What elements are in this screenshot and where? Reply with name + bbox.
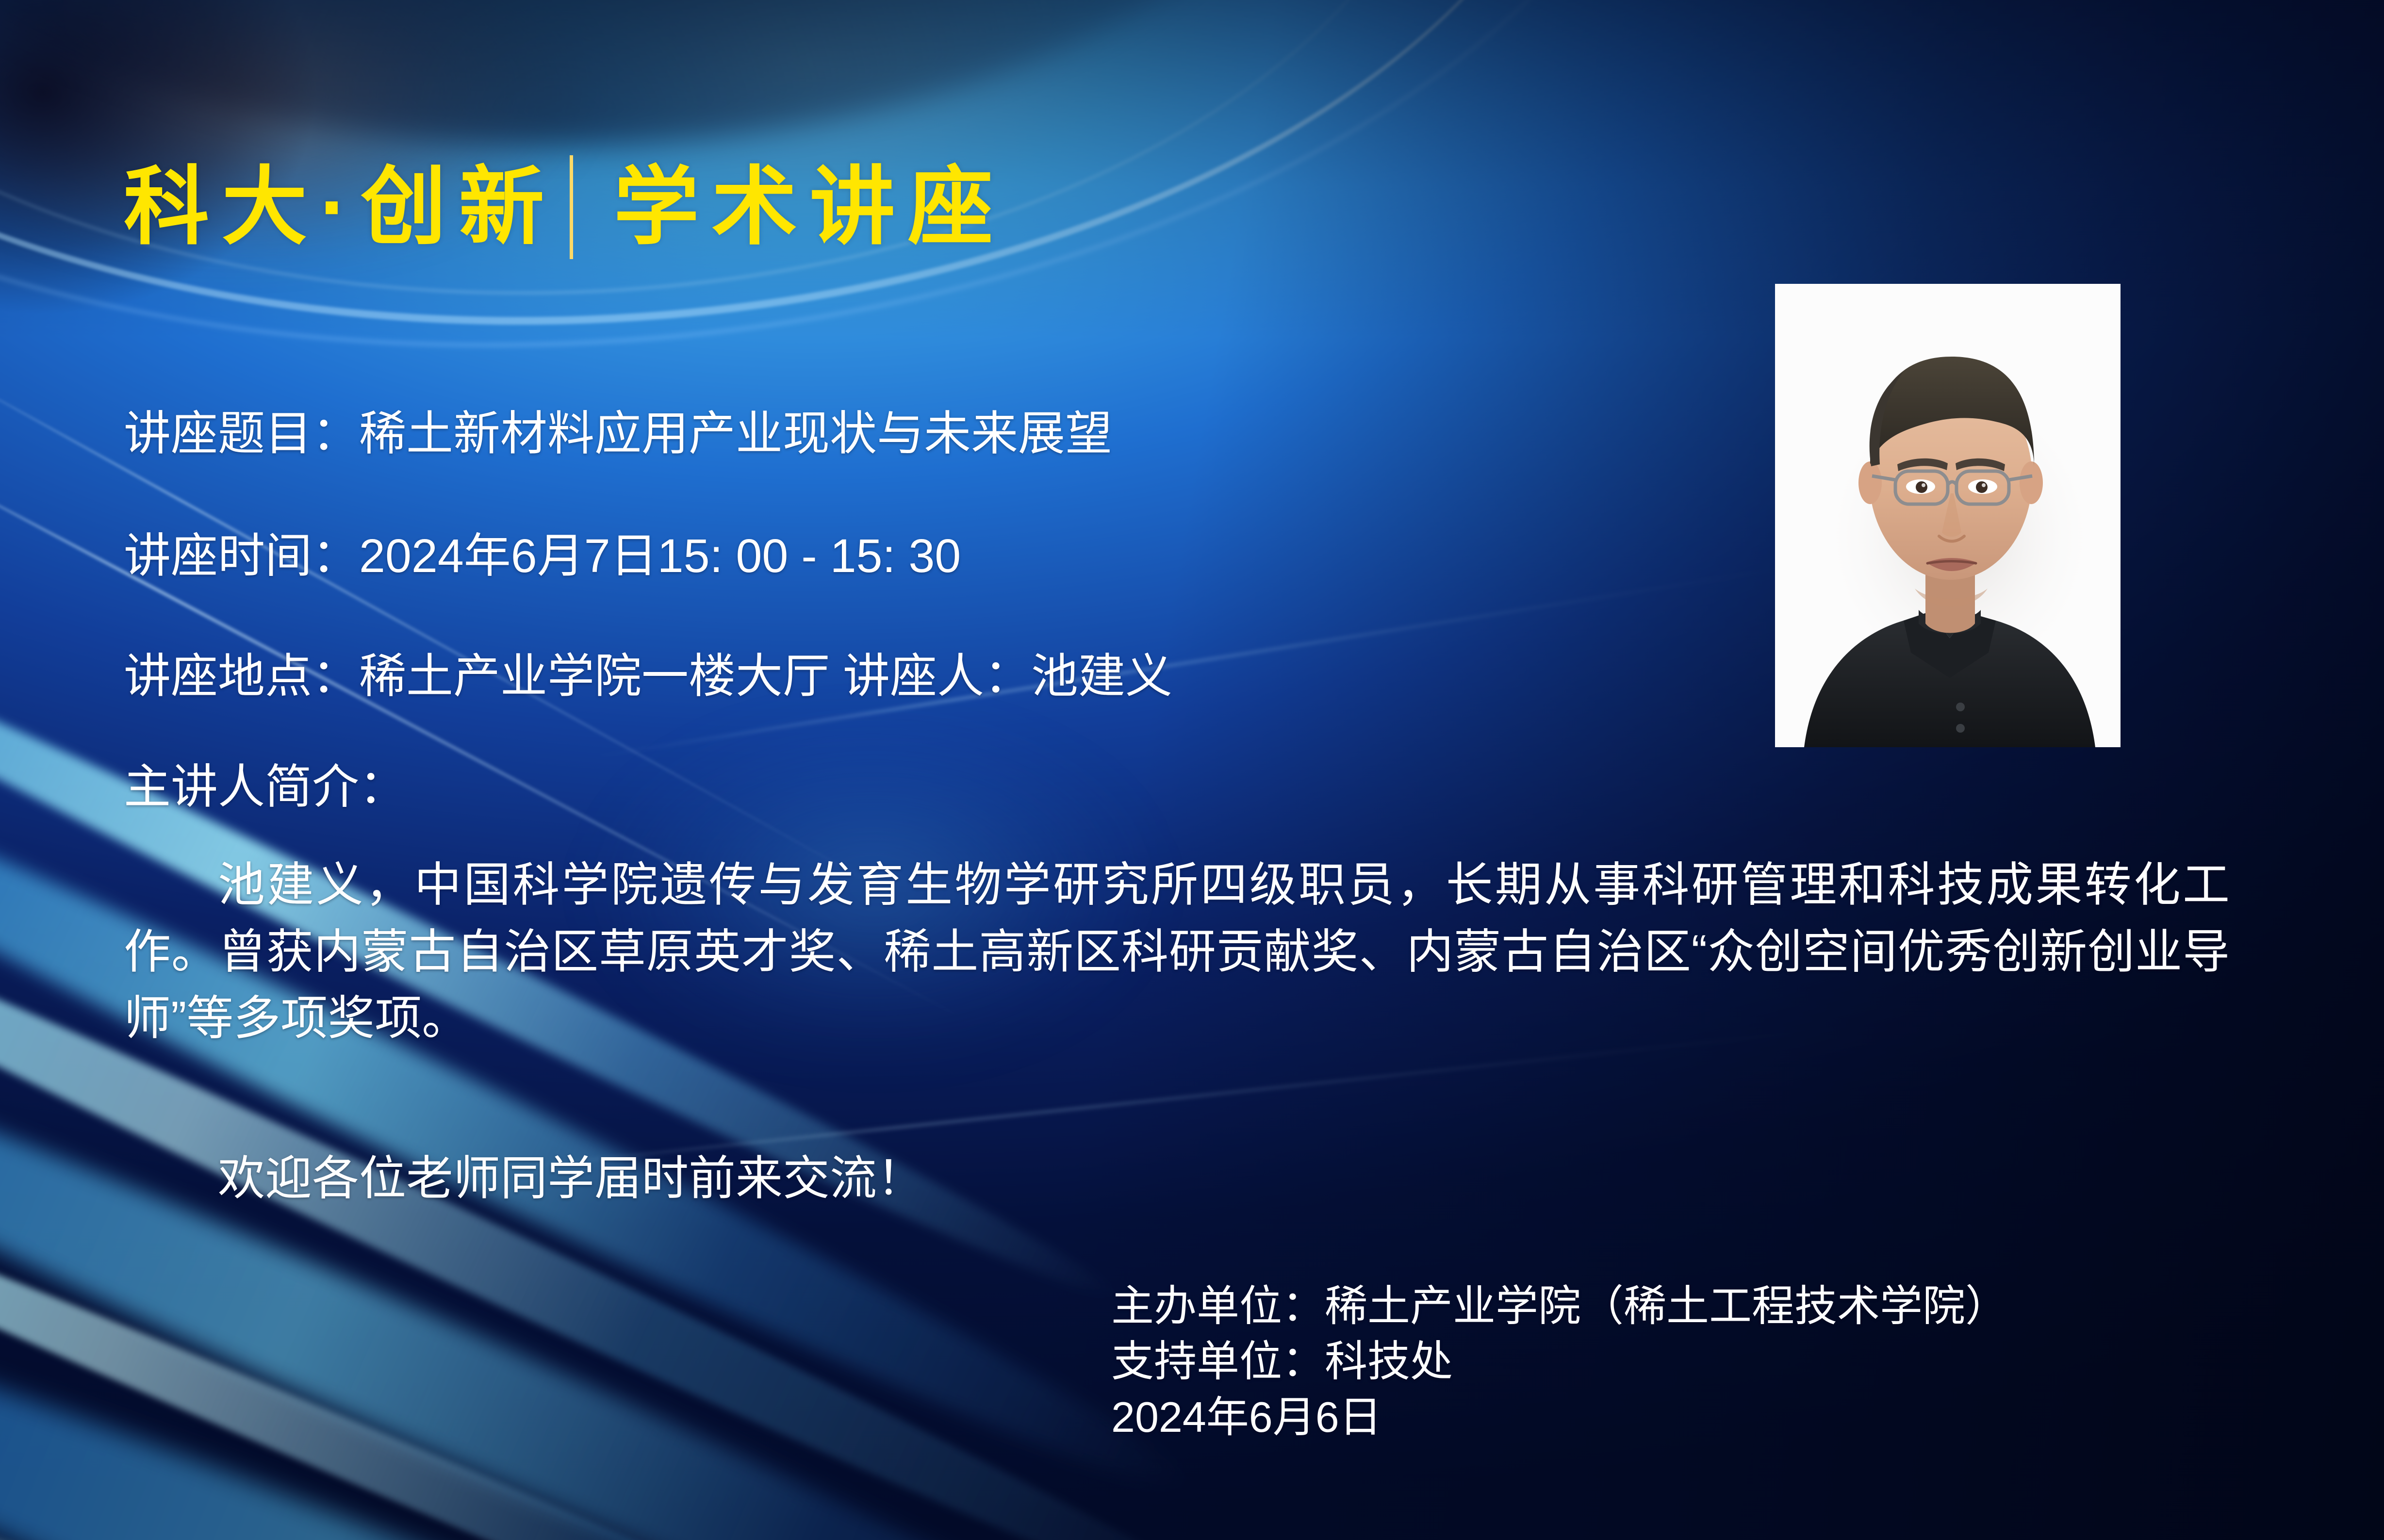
lecture-time-line: 讲座时间：2024年6月7日15: 00 - 15: 30 — [124, 530, 961, 583]
poster-footer: 主办单位：稀土产业学院（稀土工程技术学院） 支持单位：科技处 2024年6月6日 — [1111, 1278, 2008, 1445]
headline-part-1: 科大·创新 — [124, 164, 557, 250]
lecture-poster: 科大·创新 学术讲座 讲座题目：稀土新材料应用产业现状与未来展望 讲座时间：20… — [0, 0, 2384, 1540]
portrait-illustration — [1775, 284, 2121, 747]
welcome-line: 欢迎各位老师同学届时前来交流！ — [124, 1152, 924, 1205]
footer-host: 主办单位：稀土产业学院（稀土工程技术学院） — [1111, 1278, 2008, 1334]
footer-date: 2024年6月6日 — [1111, 1390, 2008, 1445]
poster-headline: 科大·创新 学术讲座 — [124, 155, 1006, 259]
headline-divider — [570, 155, 573, 259]
headline-part-2: 学术讲座 — [614, 164, 1006, 250]
speaker-bio-label: 主讲人简介： — [124, 761, 406, 814]
poster-content: 科大·创新 学术讲座 讲座题目：稀土新材料应用产业现状与未来展望 讲座时间：20… — [0, 0, 2384, 1540]
speaker-bio-paragraph: 池建义，中国科学院遗传与发育生物学研究所四级职员，长期从事科研管理和科技成果转化… — [124, 852, 2230, 1052]
speaker-bio: 池建义，中国科学院遗传与发育生物学研究所四级职员，长期从事科研管理和科技成果转化… — [124, 852, 2230, 1052]
speaker-portrait-photo — [1775, 284, 2121, 747]
lecture-title-line: 讲座题目：稀土新材料应用产业现状与未来展望 — [124, 408, 1112, 460]
lecture-place-line: 讲座地点：稀土产业学院一楼大厅 讲座人：池建义 — [124, 650, 1172, 703]
footer-support: 支持单位：科技处 — [1111, 1334, 2008, 1389]
